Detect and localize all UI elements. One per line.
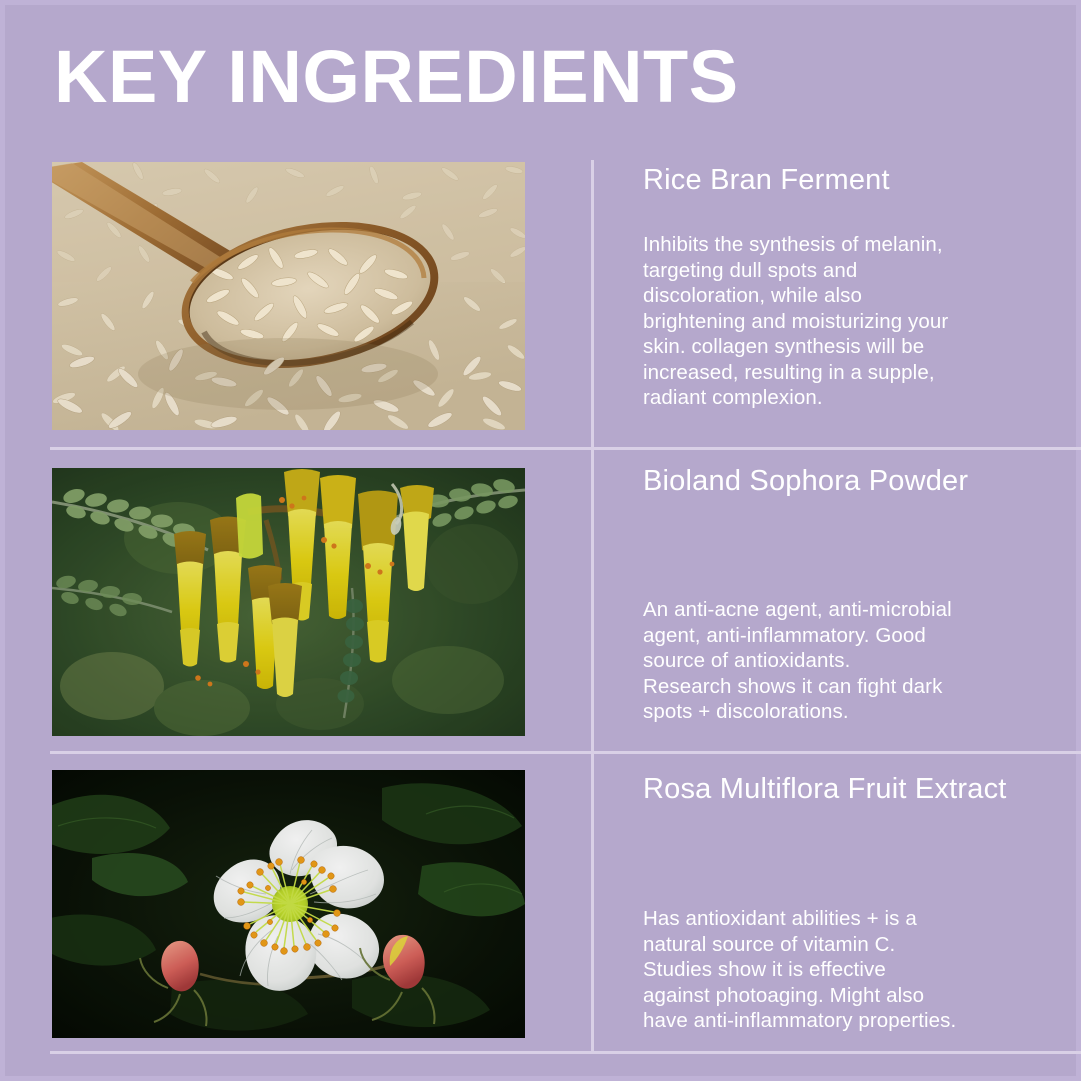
- ingredient-heading: Bioland Sophora Powder: [643, 464, 1043, 498]
- section-divider-2: [50, 751, 1081, 754]
- section-divider-3: [50, 1051, 1081, 1054]
- ingredient-heading: Rice Bran Ferment: [643, 163, 1043, 197]
- ingredient-body: Has antioxidant abilities + is a natural…: [643, 906, 1043, 1034]
- section-divider-1: [50, 447, 1081, 450]
- rosa-multiflora-image: [52, 770, 525, 1038]
- column-divider: [591, 160, 594, 1054]
- rosa-multiflora-text: Rosa Multiflora Fruit Extract Has antiox…: [643, 772, 1043, 1034]
- rice-bran-text: Rice Bran Ferment Inhibits the synthesis…: [643, 163, 1043, 411]
- sophora-flower-image: [52, 468, 525, 736]
- ingredient-body: An anti-acne agent, anti-microbial agent…: [643, 597, 1043, 725]
- page-title: KEY INGREDIENTS: [54, 34, 739, 120]
- rice-bran-image: [52, 162, 525, 430]
- key-ingredients-poster: KEY INGREDIENTS: [0, 0, 1081, 1081]
- ingredient-heading: Rosa Multiflora Fruit Extract: [643, 772, 1043, 806]
- ingredient-body: Inhibits the synthesis of melanin, targe…: [643, 232, 1043, 411]
- sophora-text: Bioland Sophora Powder An anti-acne agen…: [643, 464, 1043, 725]
